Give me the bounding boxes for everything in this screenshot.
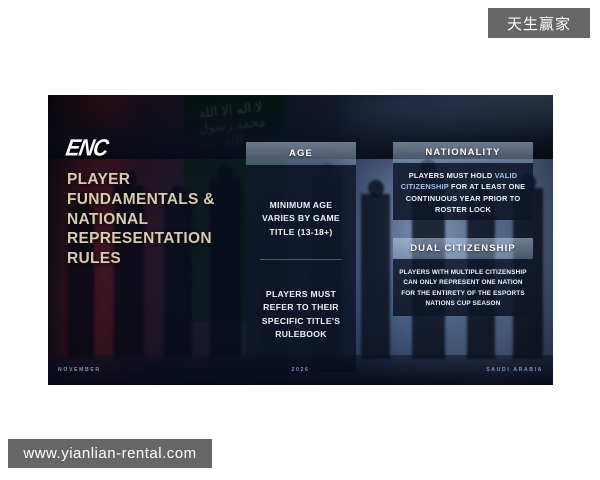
watermark-bottom-left: www.yianlian-rental.com [8,439,212,468]
enc-logo: ENC [64,136,110,163]
watermark-top-right: 天生赢家 [488,8,590,38]
card-age-divider [260,259,341,260]
footer-country: SAUDI ARABIA [486,367,543,373]
card-age-header: AGE [246,142,356,165]
slide-headline: PLAYER FUNDAMENTALS & NATIONAL REPRESENT… [67,170,257,269]
footer-month: NOVEMBER [58,367,101,373]
card-nationality-header: NATIONALITY [393,142,533,163]
card-age-text-secondary: PLAYERS MUST REFER TO THEIR SPECIFIC TIT… [246,288,356,341]
card-nationality-body: PLAYERS MUST HOLD VALID CITIZENSHIP FOR … [393,163,533,220]
card-age-body: MINIMUM AGE VARIES BY GAME TITLE (13-18+… [246,165,356,372]
page-canvas: لا اله الا الله محمد رسول الله ENC PLAYE… [0,0,600,480]
card-age: AGE MINIMUM AGE VARIES BY GAME TITLE (13… [246,142,356,372]
card-nationality: NATIONALITY PLAYERS MUST HOLD VALID CITI… [393,142,533,220]
nationality-text-before: PLAYERS MUST HOLD [409,171,495,180]
card-dual-citizenship-header: DUAL CITIZENSHIP [393,238,533,259]
slide-footer: NOVEMBER 2026 SAUDI ARABIA [48,355,553,385]
card-dual-citizenship: DUAL CITIZENSHIP PLAYERS WITH MULTIPLE C… [393,238,533,316]
card-age-text-primary: MINIMUM AGE VARIES BY GAME TITLE (13-18+… [246,199,356,239]
card-dual-citizenship-body: PLAYERS WITH MULTIPLE CITIZENSHIP CAN ON… [393,259,533,316]
footer-year: 2026 [292,367,310,373]
slide-image: لا اله الا الله محمد رسول الله ENC PLAYE… [48,95,553,385]
